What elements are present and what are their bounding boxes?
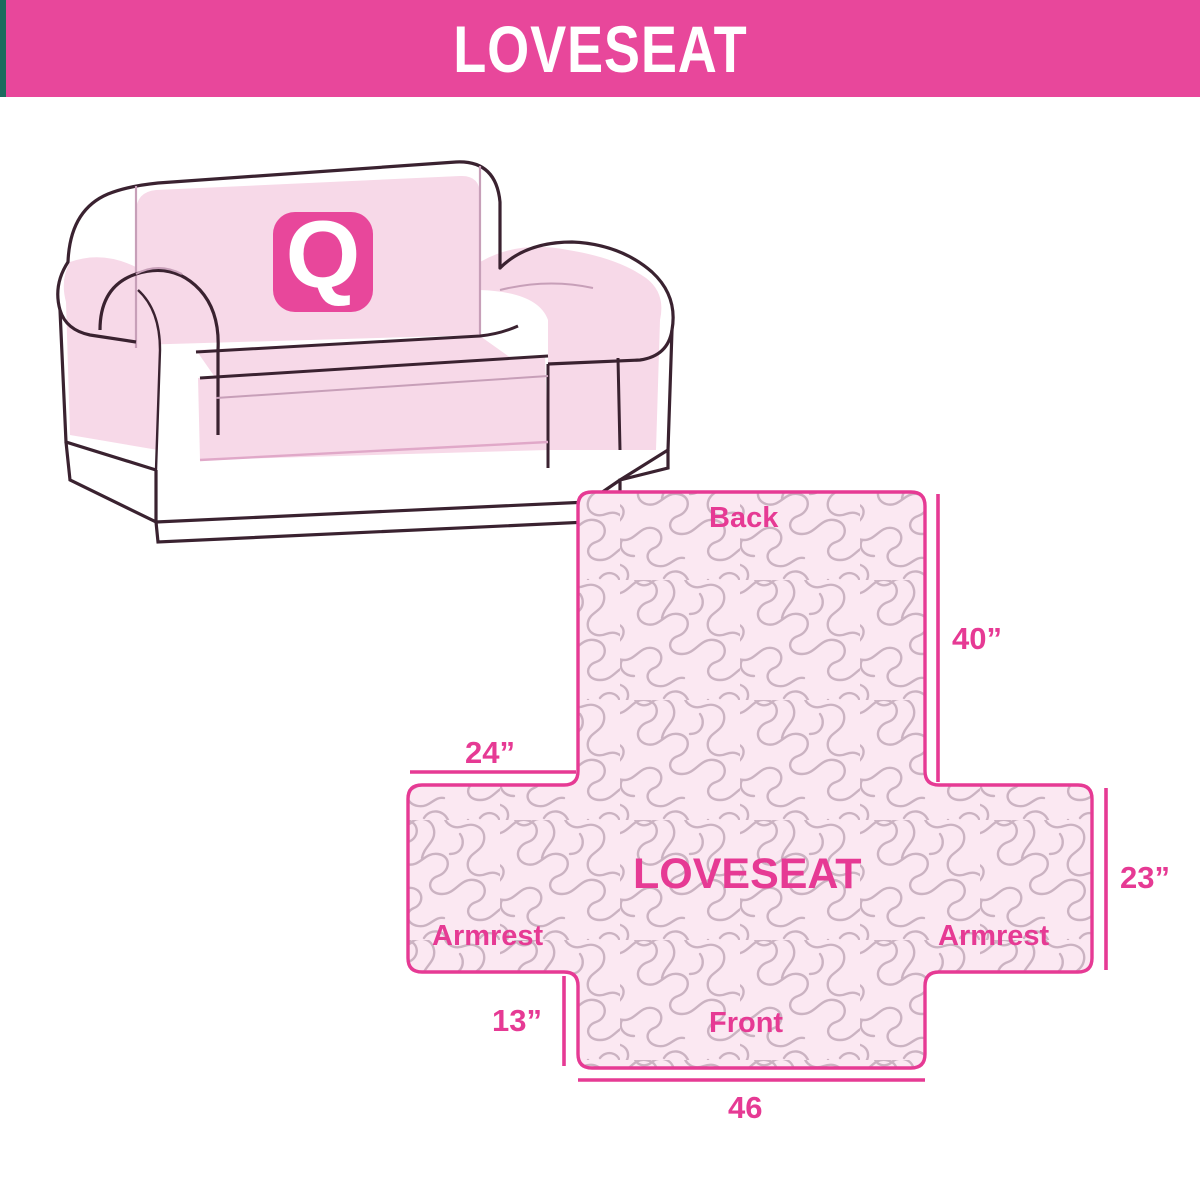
cover-outline-shape (408, 492, 1092, 1068)
panel-label-armrest-right: Armrest (938, 920, 1049, 953)
sofa-base-outline (66, 442, 156, 522)
brand-badge: Q (273, 201, 373, 312)
panel-label-back: Back (709, 502, 778, 535)
dimension-label-front-height: 13” (492, 1003, 542, 1039)
dimension-label-back-height: 40” (952, 621, 1002, 657)
panel-label-seat: LOVESEAT (633, 850, 862, 899)
panel-label-front: Front (709, 1007, 783, 1040)
dimension-label-seat-depth: 23” (1120, 860, 1170, 896)
header-banner: LOVESEAT (0, 0, 1200, 97)
panel-label-armrest-left: Armrest (432, 920, 543, 953)
dimension-label-total-width: 46 (728, 1090, 762, 1126)
page-title: LOVESEAT (453, 16, 747, 82)
header-accent-stripe (0, 0, 6, 97)
sofa-left-arm (64, 257, 160, 450)
cover-dimensions-diagram: Back LOVESEAT Armrest Armrest Front 40” … (380, 460, 1180, 1150)
brand-badge-letter: Q (286, 201, 361, 308)
dimension-label-armrest-width: 24” (465, 735, 515, 771)
cover-diagram-svg (380, 460, 1180, 1150)
